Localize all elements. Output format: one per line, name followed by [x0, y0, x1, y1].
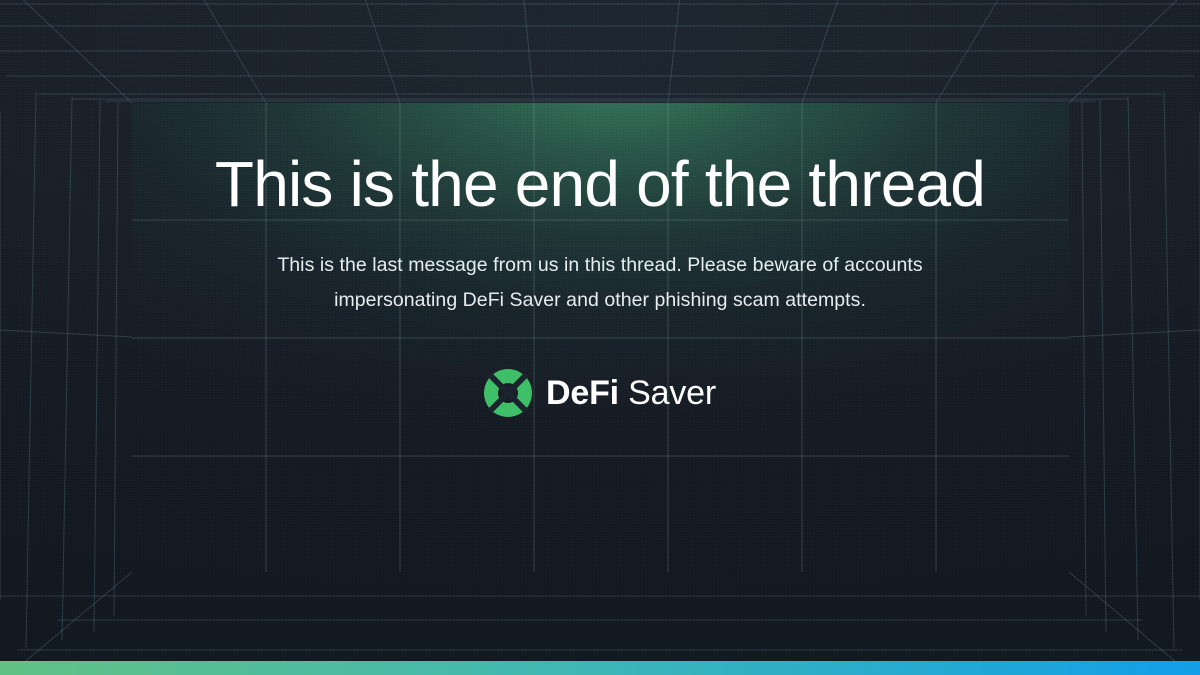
subtitle-paragraph: This is the last message from us in this…: [277, 248, 922, 316]
card-content: This is the end of the thread This is th…: [0, 0, 1200, 604]
defisaver-end-of-thread-card: This is the end of the thread This is th…: [0, 0, 1200, 675]
brand-name-light: Saver: [619, 374, 716, 412]
bottom-accent-bar: [0, 661, 1200, 675]
defisaver-lifebuoy-icon: [484, 369, 532, 417]
page-title: This is the end of the thread: [215, 151, 985, 218]
subtitle-line-1: This is the last message from us in this…: [277, 248, 922, 282]
subtitle-line-2: impersonating DeFi Saver and other phish…: [277, 283, 922, 317]
brand-logo-lockup: DeFi Saver: [484, 369, 716, 417]
brand-name-bold: DeFi: [546, 374, 619, 412]
brand-wordmark: DeFi Saver: [546, 376, 716, 410]
